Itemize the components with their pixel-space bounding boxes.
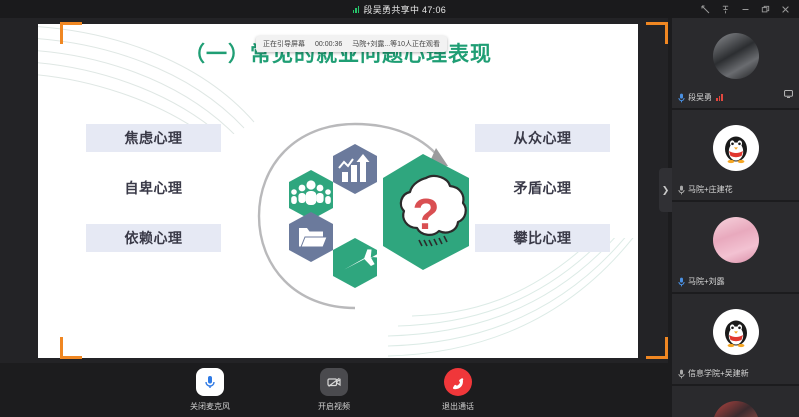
start-video-label: 开启视频 [318,401,350,412]
pin-icon[interactable] [715,0,735,18]
collapse-panel-button[interactable]: ❯ [659,168,672,212]
leave-call-label: 退出通话 [442,401,474,412]
close-icon[interactable] [775,0,795,18]
microphone-icon [196,368,224,396]
participant-name-row: 马院+庄建花 [678,184,733,195]
hex-airplane [333,238,386,288]
presentation-slide: （一）常见的就业问题心理表现 焦虑心理 自卑心理 依赖心理 从众心理 矛盾心理 … [38,24,638,358]
participant-name: 马院+刘露 [688,276,725,287]
qq-penguin-icon [719,131,753,165]
participant-name: 马院+庄建花 [688,184,733,195]
participant-tile[interactable]: 段吴勇 [672,18,799,108]
mic-on-icon [678,93,685,103]
label-anxiety: 焦虑心理 [86,124,221,152]
restore-icon[interactable] [755,0,775,18]
qq-penguin-icon [719,315,753,349]
screen-share-status: 段吴勇共享中 47:06 [353,3,446,16]
mute-microphone-button[interactable]: 关闭麦克风 [178,368,242,412]
hex-growth-chart [333,144,377,194]
label-inferiority: 自卑心理 [86,174,221,202]
avatar [713,401,759,417]
participant-name: 信息学院+吴建新 [688,368,749,379]
sharing-timer: 00:00:36 [315,41,342,48]
share-border-corner-bottom-right [646,337,668,359]
avatar [713,125,759,171]
speaking-level-icon [716,94,723,101]
mic-muted-icon [678,369,685,379]
mute-microphone-label: 关闭麦克风 [190,401,230,412]
participant-name-row: 马院+刘露 [678,276,725,287]
participant-name-row: 段吴勇 [678,92,723,103]
shared-screen-stage: （一）常见的就业问题心理表现 焦虑心理 自卑心理 依赖心理 从众心理 矛盾心理 … [0,18,668,363]
hex-question: ? [383,154,469,270]
left-label-column: 焦虑心理 自卑心理 依赖心理 [86,124,221,274]
chevron-right-icon: ❯ [662,185,670,196]
signal-bars-icon [353,5,360,13]
svg-text:?: ? [413,190,440,239]
participant-tile[interactable]: 马院+刘露 [672,202,799,292]
shrink-window-button[interactable] [695,0,715,18]
participant-tile[interactable] [672,386,799,417]
screen-share-frame: （一）常见的就业问题心理表现 焦虑心理 自卑心理 依赖心理 从众心理 矛盾心理 … [30,18,638,363]
leave-call-button[interactable]: 退出通话 [426,368,490,412]
start-video-button[interactable]: 开启视频 [302,368,366,412]
participant-tile[interactable]: 信息学院+吴建新 [672,294,799,384]
share-status-text: 段吴勇共享中 47:06 [363,3,446,16]
window-controls [695,0,795,18]
participant-tile[interactable]: 马院+庄建花 [672,110,799,200]
minimize-icon[interactable] [735,0,755,18]
screen-cast-icon [784,85,793,103]
avatar [713,217,759,263]
hangup-phone-icon [444,368,472,396]
share-border-corner-top-right [646,22,668,44]
viewers-label: 马院+刘露...等10人正在观看 [352,39,440,49]
avatar [713,309,759,355]
window-titlebar: 段吴勇共享中 47:06 [0,0,799,18]
mic-muted-icon [678,185,685,195]
label-dependency: 依赖心理 [86,224,221,252]
call-toolbar: 关闭麦克风 开启视频 退出通话 [0,363,668,417]
participant-name: 段吴勇 [688,92,712,103]
sharing-status-pill[interactable]: 正在引导屏幕 00:00:36 马院+刘露...等10人正在观看 [256,36,447,52]
hex-folder [289,212,333,262]
avatar [713,33,759,79]
participant-name-row: 信息学院+吴建新 [678,368,749,379]
hexagon-diagram: ? [243,116,513,316]
camera-off-icon [320,368,348,396]
mic-on-icon [678,277,685,287]
participant-rail[interactable]: 段吴勇 [672,18,799,417]
sharing-label: 正在引导屏幕 [263,39,305,49]
